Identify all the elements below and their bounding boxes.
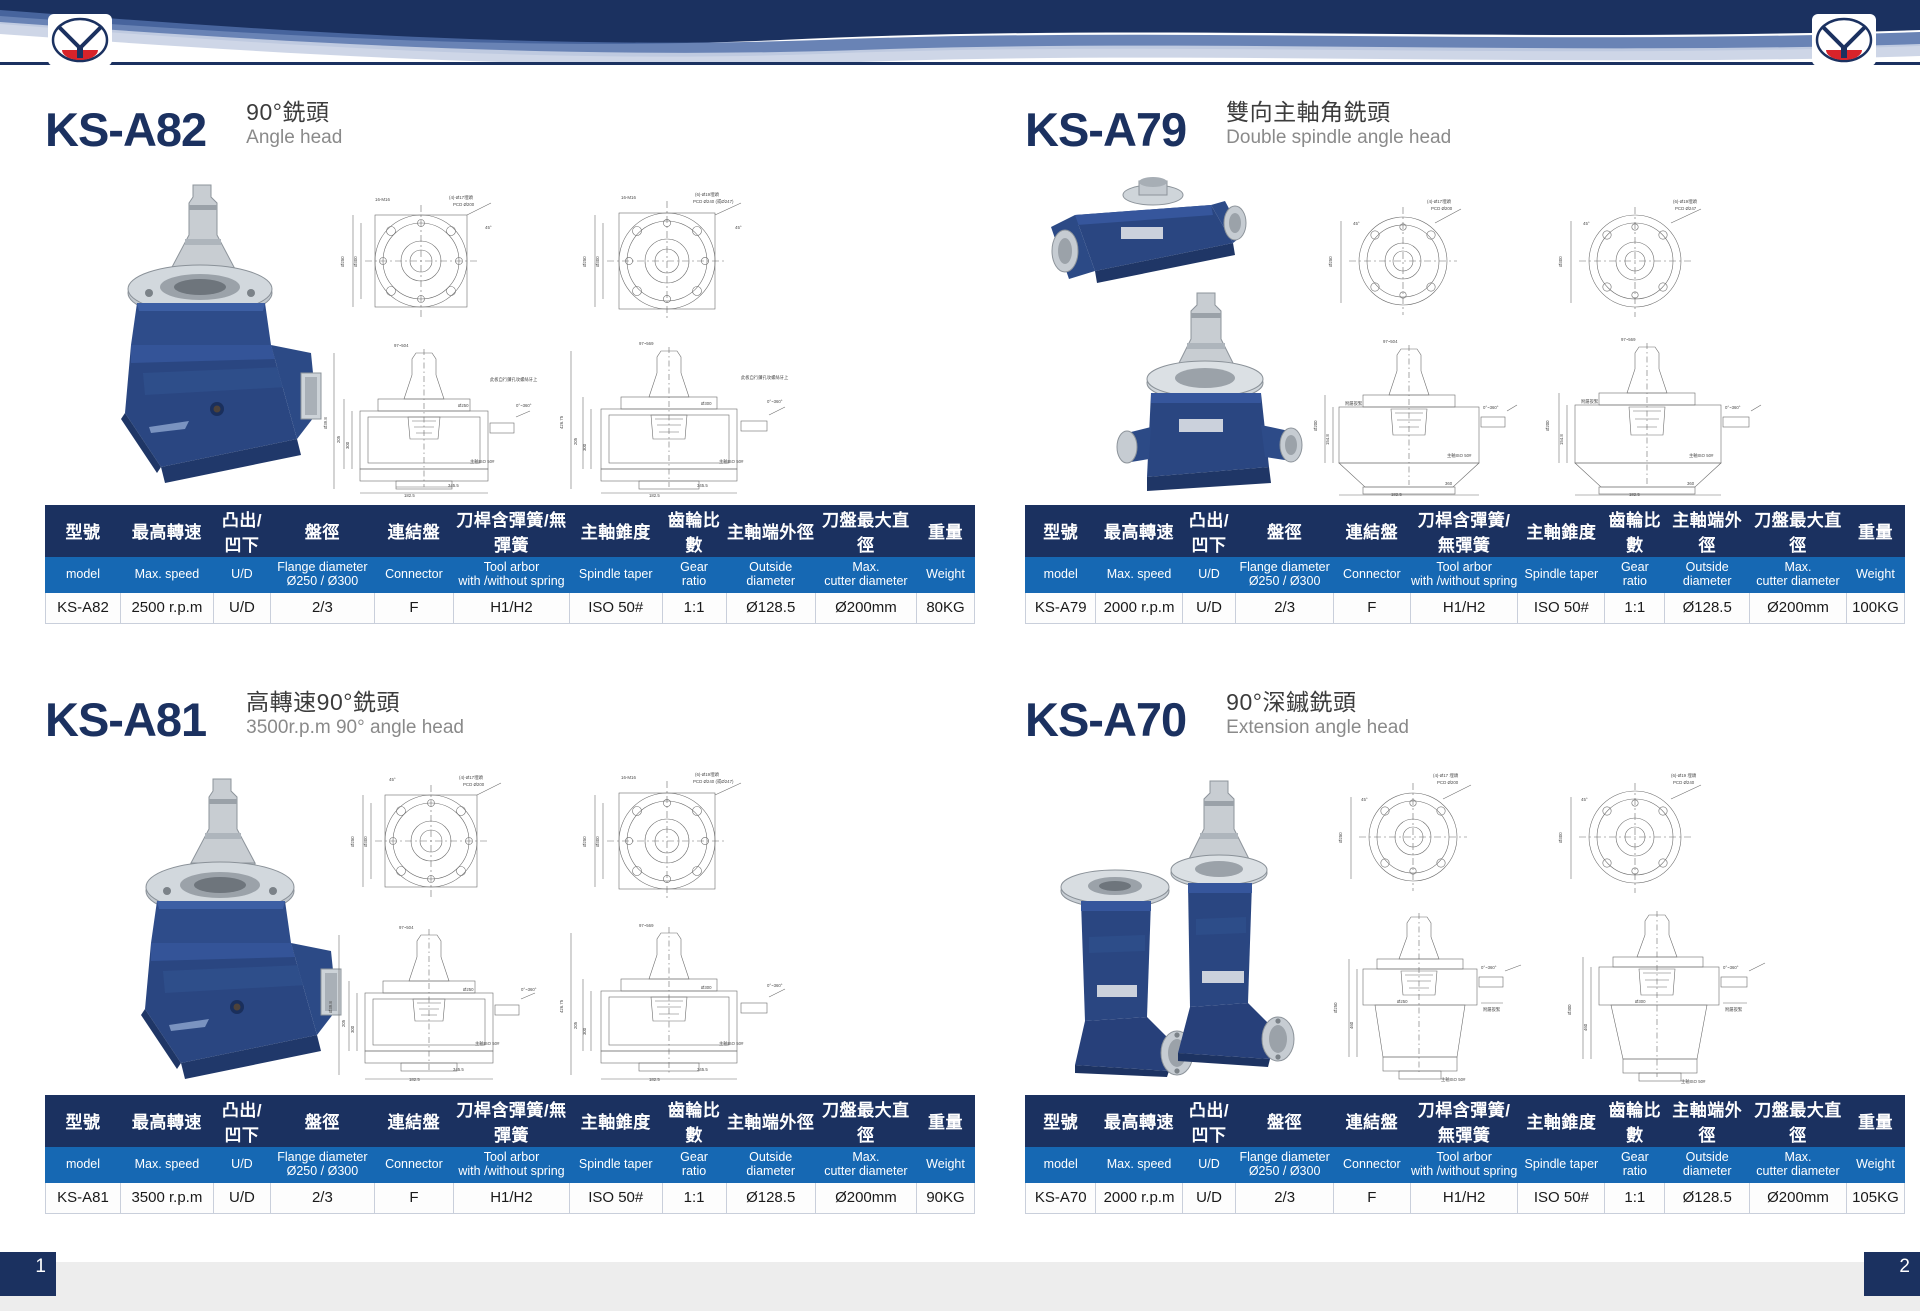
svg-text:300: 300 [582,443,587,451]
svg-text:PCD Ø247: PCD Ø247 [1675,206,1697,211]
svg-text:97~569: 97~569 [1621,337,1636,342]
cell-model: KS-A81 [46,1182,121,1213]
product-name-cn: 90°深鏚銑頭 [1226,688,1409,716]
th-arbor-cn: 刀桿含彈簧/無彈簧 [454,505,570,556]
technical-drawing-rear: (6)-Ø19埋頭 PCD Ø247 Ø300 45° [1545,189,1745,332]
svg-text:Ø250: Ø250 [350,835,355,846]
svg-text:PCD Ø240 (或Ø247): PCD Ø240 (或Ø247) [693,778,734,784]
svg-text:16-M16: 16-M16 [621,195,636,200]
th-gear-cn: 齒輪比數 [662,1095,726,1146]
footer-bar [0,1262,1920,1311]
svg-text:(4)-Ø17埋頭: (4)-Ø17埋頭 [449,194,474,201]
th-gear-cn: 齒輪比數 [1605,1095,1665,1146]
svg-text:300: 300 [345,441,350,449]
th-outside-en: Outsidediameter [726,1146,815,1182]
svg-text:0°~360°: 0°~360° [1481,965,1497,970]
kenso-logo-icon [48,14,112,66]
th-connector-en: Connector [1333,556,1410,592]
svg-text:附屬扳緊: 附屬扳緊 [1483,1006,1501,1013]
svg-text:97~504: 97~504 [394,343,409,348]
svg-text:0°~360°: 0°~360° [767,983,783,988]
svg-text:0°~360°: 0°~360° [1725,405,1741,410]
page-number-left: 1 [0,1252,56,1296]
svg-text:205: 205 [341,1019,346,1027]
th-flange-en: Flange diameterØ250 / Ø300 [1236,556,1334,592]
th-arbor-cn: 刀桿含彈簧/無彈簧 [1410,505,1518,556]
svg-text:182.5: 182.5 [649,493,660,497]
svg-text:Ø39.8: Ø39.8 [323,416,328,428]
cell-ud: U/D [213,592,270,623]
th-speed-en: Max. speed [120,556,213,592]
cell-conn: F [374,1182,453,1213]
th-outside-en: Outsidediameter [1665,556,1750,592]
svg-text:Ø300: Ø300 [595,255,600,266]
model-code: KS-A70 [1025,696,1186,743]
th-flange-cn: 盤徑 [1236,505,1334,556]
svg-text:0°~360°: 0°~360° [521,987,537,992]
product-heading: KS-A70 90°深鏚銑頭 Extension angle head [1025,688,1905,743]
svg-text:Ø39.8: Ø39.8 [328,1000,333,1012]
th-connector-cn: 連結盤 [1333,505,1410,556]
svg-text:Ø250: Ø250 [1328,255,1333,266]
svg-text:182.5: 182.5 [1391,492,1402,497]
th-speed-cn: 最高轉速 [1096,1095,1182,1146]
technical-drawing-front: (4)-Ø17 埋頭 PCD Ø200 Ø250 45° [1325,763,1515,908]
svg-text:45°: 45° [1353,221,1360,226]
cell-flange: 2/3 [271,592,375,623]
cell-speed: 2000 r.p.m [1096,592,1182,623]
media-row: 16-M16 (4)-Ø17埋頭 PCD Ø200 Ø250 Ø300 45° [45,167,975,497]
svg-text:45°: 45° [735,225,742,230]
svg-text:97~504: 97~504 [1383,339,1398,344]
svg-text:182.5: 182.5 [409,1077,420,1082]
svg-text:Ø300: Ø300 [353,255,358,266]
th-taper-en: Spindle taper [569,556,662,592]
th-model-en: model [46,556,121,592]
th-taper-en: Spindle taper [1518,556,1605,592]
svg-text:182.5: 182.5 [1629,492,1640,497]
th-arbor-en: Tool arborwith /without spring [1410,556,1518,592]
svg-text:主軸ISO 50#: 主軸ISO 50# [475,1040,500,1047]
product-photo-right [1130,775,1320,1080]
product-name-en: Double spindle angle head [1226,126,1451,150]
table-row: KS-A79 2000 r.p.m U/D 2/3 F H1/H2 ISO 50… [1026,592,1905,623]
th-model-en: model [46,1146,121,1182]
svg-text:345.5: 345.5 [697,483,708,488]
cell-ud: U/D [1182,1182,1236,1213]
th-outside-en: Outsidediameter [1665,1146,1750,1182]
product-photo [85,771,345,1096]
media-row: (4)-Ø17埋頭 PCD Ø200 Ø250 45° [1025,167,1905,497]
svg-text:PCD Ø200: PCD Ø200 [1437,780,1459,785]
svg-text:Ø300: Ø300 [1558,831,1563,842]
cell-model: KS-A70 [1026,1182,1096,1213]
th-weight-cn: 重量 [1846,505,1904,556]
svg-text:PCD Ø200: PCD Ø200 [1431,206,1453,211]
svg-text:97~569: 97~569 [639,923,654,928]
svg-text:16-M16: 16-M16 [621,775,636,780]
th-weight-en: Weight [1846,1146,1904,1182]
cell-conn: F [1333,592,1410,623]
cell-weight: 80KG [917,592,975,623]
cell-speed: 3500 r.p.m [120,1182,213,1213]
svg-text:主軸ISO 50#: 主軸ISO 50# [470,458,495,465]
table-header-cn: 型號 最高轉速 凸出/凹下 盤徑 連結盤 刀桿含彈簧/無彈簧 主軸錐度 齒輪比數… [46,1095,975,1146]
technical-drawing-front: 16-M16 (4)-Ø17埋頭 PCD Ø200 Ø250 Ø300 45° [335,189,525,334]
th-model-cn: 型號 [1026,505,1096,556]
svg-text:(4)-Ø17 埋頭: (4)-Ø17 埋頭 [1433,772,1459,779]
th-gear-cn: 齒輪比數 [662,505,726,556]
cell-cutter: Ø200mm [815,1182,916,1213]
th-taper-en: Spindle taper [1518,1146,1605,1182]
th-gear-en: Gearratio [1605,1146,1665,1182]
svg-text:45°: 45° [1361,797,1368,802]
th-cutter-en: Max.cutter diameter [815,1146,916,1182]
th-taper-en: Spindle taper [569,1146,662,1182]
product-name-cn: 高轉速90°銑頭 [246,688,464,716]
svg-text:(6)-Ø19 埋頭: (6)-Ø19 埋頭 [1671,772,1697,779]
th-connector-en: Connector [1333,1146,1410,1182]
svg-text:附屬扳緊: 附屬扳緊 [1581,398,1599,405]
top-banner [0,0,1920,72]
th-model-en: model [1026,556,1096,592]
svg-text:主軸ISO 50#: 主軸ISO 50# [1689,452,1714,459]
svg-text:426.75: 426.75 [559,999,564,1013]
product-photo [65,177,325,502]
svg-text:345.5: 345.5 [453,1067,464,1072]
svg-text:Ø300: Ø300 [1635,999,1646,1004]
svg-text:0°~360°: 0°~360° [1483,405,1499,410]
product-heading: KS-A79 雙向主軸角銑頭 Double spindle angle head [1025,98,1905,153]
svg-text:主軸ISO 50#: 主軸ISO 50# [719,458,744,465]
model-code: KS-A82 [45,106,206,153]
th-speed-cn: 最高轉速 [120,1095,213,1146]
spec-table-ks-a70: 型號 最高轉速 凸出/凹下 盤徑 連結盤 刀桿含彈簧/無彈簧 主軸錐度 齒輪比數… [1025,1095,1905,1214]
cell-arbor: H1/H2 [454,592,570,623]
svg-text:Ø250: Ø250 [582,835,587,846]
technical-drawing-front: 45° (4)-Ø17埋頭 PCD Ø200 Ø250 Ø300 [345,769,535,914]
svg-text:此板自行鑽孔攻螺絲牙上: 此板自行鑽孔攻螺絲牙上 [741,374,789,381]
svg-text:PCD Ø200: PCD Ø200 [453,202,475,207]
th-weight-cn: 重量 [917,505,975,556]
svg-text:Ø250: Ø250 [1333,1002,1338,1013]
svg-text:0°~360°: 0°~360° [516,403,532,408]
svg-text:此板自行鑽孔攻螺絲牙上: 此板自行鑽孔攻螺絲牙上 [490,376,538,383]
svg-text:附屬扳緊: 附屬扳緊 [1725,1006,1743,1013]
th-taper-cn: 主軸錐度 [569,505,662,556]
svg-text:300: 300 [582,1027,587,1035]
cell-gear: 1:1 [1605,592,1665,623]
cell-ud: U/D [213,1182,270,1213]
product-name-cn: 90°銑頭 [246,98,342,126]
cell-ud: U/D [1182,592,1236,623]
technical-drawing-front: (4)-Ø17埋頭 PCD Ø200 Ø250 45° [1315,191,1505,332]
product-name-en: 3500r.p.m 90° angle head [246,716,464,740]
technical-drawing-section-b: 97~569 426.75 205 300 182.5 345.5 Ø300 0… [555,335,795,502]
cell-taper: ISO 50# [1518,1182,1605,1213]
svg-text:Ø300: Ø300 [701,401,712,406]
technical-drawing-section-a: Ø250 460 0°~360° 附屬扳緊 主軸ISO 50# Ø250 [1315,907,1530,1092]
th-speed-en: Max. speed [1096,556,1182,592]
svg-text:460: 460 [1583,1023,1588,1031]
th-gear-en: Gearratio [662,1146,726,1182]
cell-speed: 2000 r.p.m [1096,1182,1182,1213]
th-ud-cn: 凸出/凹下 [213,505,270,556]
table-row: KS-A70 2000 r.p.m U/D 2/3 F H1/H2 ISO 50… [1026,1182,1905,1213]
th-ud-cn: 凸出/凹下 [1182,505,1236,556]
svg-text:(4)-Ø17埋頭: (4)-Ø17埋頭 [459,774,484,781]
cell-conn: F [1333,1182,1410,1213]
th-ud-en: U/D [213,1146,270,1182]
cell-weight: 100KG [1846,592,1904,623]
th-outside-cn: 主軸端外徑 [1665,1095,1750,1146]
th-flange-en: Flange diameterØ250 / Ø300 [271,556,375,592]
cell-cutter: Ø200mm [815,592,916,623]
svg-text:154.8: 154.8 [1559,433,1564,444]
table-header-en: model Max. speed U/D Flange diameterØ250… [1026,556,1905,592]
svg-text:PCD Ø200: PCD Ø200 [463,782,485,787]
cell-flange: 2/3 [1236,592,1334,623]
svg-text:Ø200: Ø200 [1545,420,1550,431]
cell-taper: ISO 50# [569,1182,662,1213]
svg-text:Ø300: Ø300 [363,835,368,846]
table-header-cn: 型號 最高轉速 凸出/凹下 盤徑 連結盤 刀桿含彈簧/無彈簧 主軸錐度 齒輪比數… [1026,1095,1905,1146]
cell-gear: 1:1 [662,592,726,623]
product-heading: KS-A82 90°銑頭 Angle head [45,98,975,153]
table-header-en: model Max. speed U/D Flange diameterØ250… [1026,1146,1905,1182]
th-taper-cn: 主軸錐度 [569,1095,662,1146]
technical-drawing-rear: 16-M16 (6)-Ø19埋頭 PCD Ø240 (或Ø247) Ø250 Ø… [575,767,785,917]
th-cutter-en: Max.cutter diameter [815,556,916,592]
cell-gear: 1:1 [1605,1182,1665,1213]
table-header-cn: 型號 最高轉速 凸出/凹下 盤徑 連結盤 刀桿含彈簧/無彈簧 主軸錐度 齒輪比數… [1026,505,1905,556]
th-speed-en: Max. speed [120,1146,213,1182]
th-speed-cn: 最高轉速 [1096,505,1182,556]
th-connector-en: Connector [374,556,453,592]
svg-text:97~504: 97~504 [399,925,414,930]
cell-outside: Ø128.5 [726,1182,815,1213]
cell-model: KS-A82 [46,592,121,623]
svg-text:Ø250: Ø250 [1397,999,1408,1004]
svg-text:Ø250: Ø250 [582,255,587,266]
cell-outside: Ø128.5 [1665,592,1750,623]
product-block-ks-a70: KS-A70 90°深鏚銑頭 Extension angle head [1025,688,1905,1214]
cell-taper: ISO 50# [1518,592,1605,623]
cell-cutter: Ø200mm [1750,592,1847,623]
svg-text:182.5: 182.5 [649,1077,660,1082]
th-weight-en: Weight [917,556,975,592]
technical-drawing-section-a: 97~504 Ø39.8 205 300 182.5 345.5 Ø250 0°… [325,917,545,1088]
svg-text:0°~360°: 0°~360° [1723,965,1739,970]
cell-weight: 90KG [917,1182,975,1213]
th-flange-en: Flange diameterØ250 / Ø300 [271,1146,375,1182]
svg-text:45°: 45° [389,777,396,782]
catalog-page: KS-A82 90°銑頭 Angle head [0,0,1920,1311]
cell-gear: 1:1 [662,1182,726,1213]
cell-flange: 2/3 [1236,1182,1334,1213]
svg-text:205: 205 [573,1021,578,1029]
cell-outside: Ø128.5 [1665,1182,1750,1213]
svg-text:360: 360 [1687,481,1695,486]
svg-text:PCD Ø240: PCD Ø240 [1673,780,1695,785]
product-photo-lower [1105,287,1315,502]
cell-arbor: H1/H2 [454,1182,570,1213]
media-row: (4)-Ø17 埋頭 PCD Ø200 Ø250 45° [1025,757,1905,1087]
th-outside-en: Outsidediameter [726,556,815,592]
model-code: KS-A79 [1025,106,1186,153]
spec-table-ks-a81: 型號 最高轉速 凸出/凹下 盤徑 連結盤 刀桿含彈簧/無彈簧 主軸錐度 齒輪比數… [45,1095,975,1214]
svg-text:Ø300: Ø300 [1558,255,1563,266]
svg-text:345.5: 345.5 [697,1067,708,1072]
svg-text:300: 300 [350,1025,355,1033]
product-block-ks-a79: KS-A79 雙向主軸角銑頭 Double spindle angle head [1025,98,1905,624]
th-speed-cn: 最高轉速 [120,505,213,556]
svg-text:(4)-Ø17埋頭: (4)-Ø17埋頭 [1427,198,1452,205]
spec-table-ks-a82: 型號 最高轉速 凸出/凹下 盤徑 連結盤 刀桿含彈簧/無彈簧 主軸錐度 齒輪比數… [45,505,975,624]
technical-drawing-section-b: 97~569 Ø200 154.8 182.5 360 0°~360° 附屬扳緊… [1535,333,1765,502]
th-taper-cn: 主軸錐度 [1518,505,1605,556]
table-row: KS-A81 3500 r.p.m U/D 2/3 F H1/H2 ISO 50… [46,1182,975,1213]
kenso-logo-icon [1812,14,1876,66]
th-gear-cn: 齒輪比數 [1605,505,1665,556]
svg-text:主軸ISO 50#: 主軸ISO 50# [1441,1076,1466,1083]
th-cutter-en: Max.cutter diameter [1750,556,1847,592]
spec-table-ks-a79: 型號 最高轉速 凸出/凹下 盤徑 連結盤 刀桿含彈簧/無彈簧 主軸錐度 齒輪比數… [1025,505,1905,624]
th-model-cn: 型號 [1026,1095,1096,1146]
svg-text:Ø300: Ø300 [1567,1004,1572,1015]
th-flange-cn: 盤徑 [271,1095,375,1146]
technical-drawing-section-b: Ø300 460 0°~360° 附屬扳緊 主軸ISO 50# Ø300 [1545,905,1775,1094]
th-cutter-cn: 刀盤最大直徑 [1750,505,1847,556]
th-outside-cn: 主軸端外徑 [1665,505,1750,556]
cell-arbor: H1/H2 [1410,1182,1518,1213]
svg-text:45°: 45° [1583,221,1590,226]
cell-arbor: H1/H2 [1410,592,1518,623]
th-connector-cn: 連結盤 [1333,1095,1410,1146]
th-ud-en: U/D [213,556,270,592]
th-outside-cn: 主軸端外徑 [726,1095,815,1146]
svg-text:205: 205 [336,435,341,443]
th-flange-cn: 盤徑 [271,505,375,556]
svg-text:附屬扳緊: 附屬扳緊 [1345,400,1363,407]
svg-text:154.8: 154.8 [1325,433,1330,444]
svg-text:Ø250: Ø250 [463,987,474,992]
th-cutter-en: Max.cutter diameter [1750,1146,1847,1182]
th-cutter-cn: 刀盤最大直徑 [815,1095,916,1146]
media-row: 45° (4)-Ø17埋頭 PCD Ø200 Ø250 Ø300 [45,757,975,1087]
model-code: KS-A81 [45,696,206,743]
cell-flange: 2/3 [271,1182,375,1213]
product-block-ks-a82: KS-A82 90°銑頭 Angle head [45,98,975,624]
svg-text:主軸ISO 50#: 主軸ISO 50# [1681,1078,1706,1085]
th-arbor-cn: 刀桿含彈簧/無彈簧 [454,1095,570,1146]
product-block-ks-a81: KS-A81 高轉速90°銑頭 3500r.p.m 90° angle head [45,688,975,1214]
technical-drawing-rear: 16-M16 (6)-Ø19埋頭 PCD Ø240 (或Ø247) Ø250 Ø… [575,187,785,337]
svg-text:主軸ISO 50#: 主軸ISO 50# [1447,452,1472,459]
technical-drawing-section-a: 97~504 Ø200 154.8 182.5 360 0°~360° 附屬扳緊… [1305,335,1520,502]
svg-text:45°: 45° [485,225,492,230]
th-arbor-cn: 刀桿含彈簧/無彈簧 [1410,1095,1518,1146]
th-gear-en: Gearratio [1605,556,1665,592]
product-name-en: Extension angle head [1226,716,1409,740]
th-arbor-en: Tool arborwith /without spring [1410,1146,1518,1182]
svg-text:Ø300: Ø300 [595,835,600,846]
product-heading: KS-A81 高轉速90°銑頭 3500r.p.m 90° angle head [45,688,975,743]
table-header-cn: 型號 最高轉速 凸出/凹下 盤徑 連結盤 刀桿含彈簧/無彈簧 主軸錐度 齒輪比數… [46,505,975,556]
svg-text:Ø250: Ø250 [340,255,345,266]
svg-text:0°~360°: 0°~360° [767,399,783,404]
svg-text:Ø250: Ø250 [458,403,469,408]
cell-cutter: Ø200mm [1750,1182,1847,1213]
th-model-cn: 型號 [46,505,121,556]
cell-outside: Ø128.5 [726,592,815,623]
svg-text:(6)-Ø19埋頭: (6)-Ø19埋頭 [695,771,720,778]
th-arbor-en: Tool arborwith /without spring [454,1146,570,1182]
svg-text:Ø250: Ø250 [1338,831,1343,842]
th-connector-cn: 連結盤 [374,1095,453,1146]
th-gear-en: Gearratio [662,556,726,592]
svg-text:460: 460 [1349,1021,1354,1029]
th-weight-cn: 重量 [917,1095,975,1146]
svg-text:97~569: 97~569 [639,341,654,346]
table-header-en: model Max. speed U/D Flange diameterØ250… [46,556,975,592]
svg-text:360: 360 [1445,481,1453,486]
th-ud-cn: 凸出/凹下 [213,1095,270,1146]
th-arbor-en: Tool arborwith /without spring [454,556,570,592]
cell-model: KS-A79 [1026,592,1096,623]
svg-text:(6)-Ø19埋頭: (6)-Ø19埋頭 [695,191,720,198]
svg-text:Ø200: Ø200 [1313,420,1318,431]
th-outside-cn: 主軸端外徑 [726,505,815,556]
technical-drawing-section-a: 97~504 Ø39.8 205 300 182.5 345.5 Ø250 0°… [320,337,540,502]
th-model-cn: 型號 [46,1095,121,1146]
th-ud-cn: 凸出/凹下 [1182,1095,1236,1146]
cell-conn: F [374,592,453,623]
th-connector-cn: 連結盤 [374,505,453,556]
svg-text:426.75: 426.75 [559,415,564,429]
svg-text:205: 205 [573,437,578,445]
table-row: KS-A82 2500 r.p.m U/D 2/3 F H1/H2 ISO 50… [46,592,975,623]
table-header-en: model Max. speed U/D Flange diameterØ250… [46,1146,975,1182]
svg-text:(6)-Ø19埋頭: (6)-Ø19埋頭 [1673,198,1698,205]
page-number-right: 2 [1864,1252,1920,1296]
cell-speed: 2500 r.p.m [120,592,213,623]
th-flange-en: Flange diameterØ250 / Ø300 [1236,1146,1334,1182]
technical-drawing-rear: (6)-Ø19 埋頭 PCD Ø240 Ø300 45° [1545,761,1745,908]
technical-drawing-section-b: 97~569 426.75 205 300 182.5 345.5 Ø300 0… [555,915,795,1088]
svg-text:Ø300: Ø300 [701,985,712,990]
th-ud-en: U/D [1182,556,1236,592]
svg-text:45°: 45° [1581,797,1588,802]
product-name-cn: 雙向主軸角銑頭 [1226,98,1451,126]
th-weight-en: Weight [917,1146,975,1182]
cell-taper: ISO 50# [569,592,662,623]
th-connector-en: Connector [374,1146,453,1182]
th-speed-en: Max. speed [1096,1146,1182,1182]
th-model-en: model [1026,1146,1096,1182]
th-taper-cn: 主軸錐度 [1518,1095,1605,1146]
svg-text:182.5: 182.5 [404,493,415,497]
product-name-en: Angle head [246,126,342,150]
th-cutter-cn: 刀盤最大直徑 [1750,1095,1847,1146]
th-cutter-cn: 刀盤最大直徑 [815,505,916,556]
th-ud-en: U/D [1182,1146,1236,1182]
svg-text:16-M16: 16-M16 [375,197,390,202]
th-flange-cn: 盤徑 [1236,1095,1334,1146]
cell-weight: 105KG [1846,1182,1904,1213]
th-weight-cn: 重量 [1846,1095,1904,1146]
svg-text:345.5: 345.5 [448,483,459,488]
